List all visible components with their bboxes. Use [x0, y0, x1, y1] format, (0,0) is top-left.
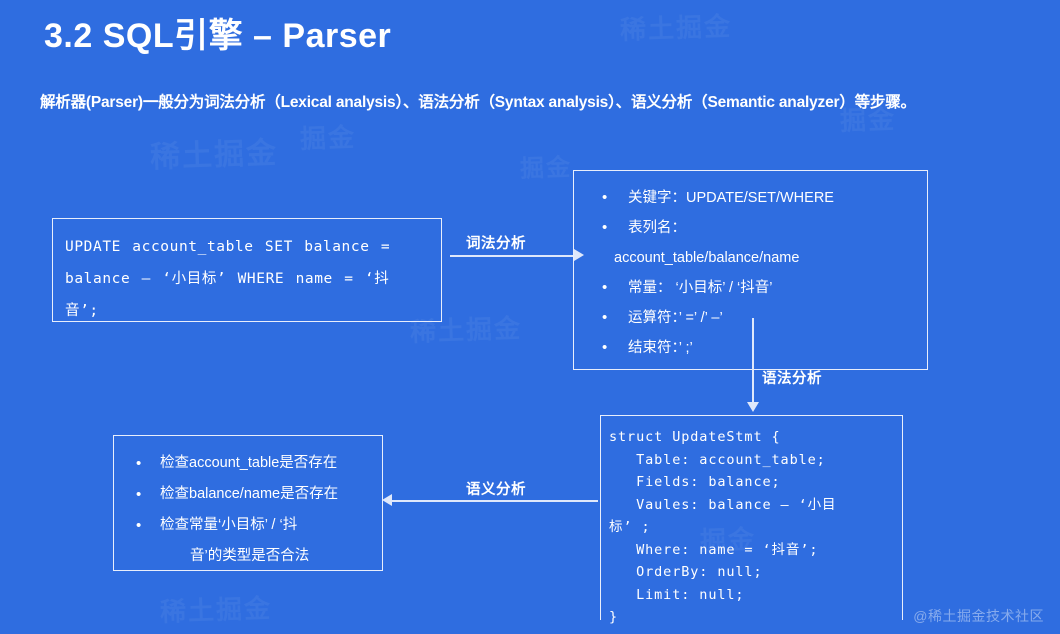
semantic-check-item-continuation: 音’的类型是否合法: [114, 541, 374, 572]
token-item: 结束符：’ ;’: [574, 333, 917, 363]
syntax-analysis-arrow-head: [747, 402, 759, 412]
sql-statement-box: UPDATE account_table SET balance = balan…: [52, 218, 442, 322]
token-list: 关键字：UPDATE/SET/WHERE 表列名： account_table/…: [574, 183, 917, 363]
semantic-check-item: 检查balance/name是否存在: [114, 479, 374, 510]
syntax-analysis-arrow-line: [752, 318, 754, 408]
semantic-analysis-arrow-line: [392, 500, 598, 502]
ast-struct-code: struct UpdateStmt { Table: account_table…: [609, 426, 902, 629]
semantic-check-item: 检查account_table是否存在: [114, 448, 374, 479]
page-title: 3.2 SQL引擎 – Parser: [44, 8, 391, 57]
sql-line-2: balance – ‘小目标’ WHERE name = ‘抖: [65, 263, 425, 295]
lexical-analysis-arrow-line: [450, 255, 576, 257]
background-watermark: 稀土掘金: [619, 6, 732, 47]
semantic-analysis-arrow-head: [382, 494, 392, 506]
sql-line-3: 音’;: [65, 295, 425, 327]
background-watermark: 掘金: [519, 147, 572, 184]
token-item: 关键字：UPDATE/SET/WHERE: [574, 183, 917, 213]
semantic-check-item: 检查常量‘小目标’ / ‘抖: [114, 510, 374, 541]
semantic-check-box: 检查account_table是否存在 检查balance/name是否存在 检…: [113, 435, 383, 571]
page-subtitle: 解析器(Parser)一般分为词法分析（Lexical analysis）、语法…: [40, 90, 916, 112]
token-item: 表列名：: [574, 213, 917, 243]
background-watermark: 稀土掘金: [159, 588, 272, 629]
semantic-check-list: 检查account_table是否存在 检查balance/name是否存在 检…: [114, 448, 374, 572]
corner-watermark: @稀土掘金技术社区: [913, 606, 1044, 626]
token-item: 运算符：’ =’ /’ –’: [574, 303, 917, 333]
token-item-continuation: account_table/balance/name: [574, 243, 917, 273]
token-item: 常量： ‘小目标’ / ‘抖音’: [574, 273, 917, 303]
slide-canvas: 稀土掘金 掘金 稀土掘金 掘金 稀土掘金 掘金 稀土掘金 掘金 3.2 SQL引…: [0, 0, 1060, 634]
semantic-analysis-label: 语义分析: [466, 478, 526, 499]
token-list-box: 关键字：UPDATE/SET/WHERE 表列名： account_table/…: [573, 170, 928, 370]
sql-line-1: UPDATE account_table SET balance =: [65, 231, 425, 263]
ast-struct-box: struct UpdateStmt { Table: account_table…: [600, 415, 903, 620]
background-watermark: 掘金: [299, 117, 356, 156]
lexical-analysis-label: 词法分析: [466, 232, 526, 253]
syntax-analysis-label: 语法分析: [762, 367, 822, 388]
background-watermark: 稀土掘金: [149, 128, 278, 176]
